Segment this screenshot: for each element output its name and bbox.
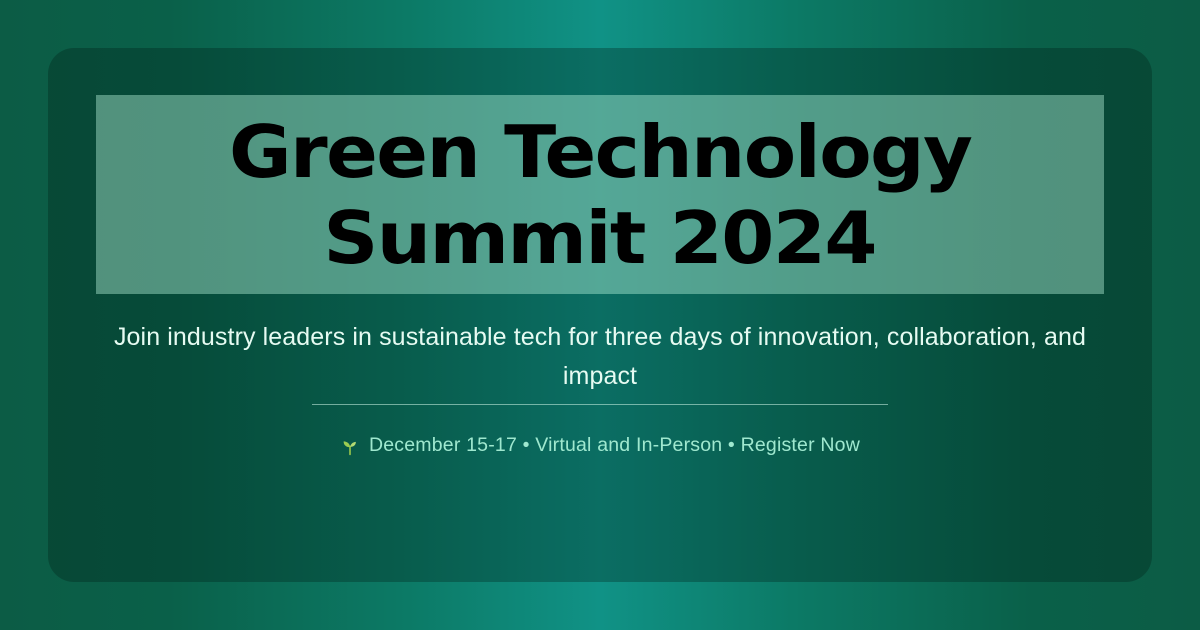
banner-card: Green Technology Summit 2024 Join indust… xyxy=(48,48,1152,582)
event-meta-text: December 15-17 • Virtual and In-Person •… xyxy=(369,434,860,457)
event-meta-row: December 15-17 • Virtual and In-Person •… xyxy=(96,434,1104,457)
page-title-line-1: Green Technology xyxy=(229,109,971,195)
seedling-icon xyxy=(340,436,360,456)
event-banner: Green Technology Summit 2024 Join indust… xyxy=(0,0,1200,630)
banner-subtitle: Join industry leaders in sustainable tec… xyxy=(96,318,1104,396)
page-title-line-2: Summit 2024 xyxy=(324,195,876,281)
title-highlight-band: Green Technology Summit 2024 xyxy=(96,95,1104,294)
horizontal-divider xyxy=(312,404,888,405)
